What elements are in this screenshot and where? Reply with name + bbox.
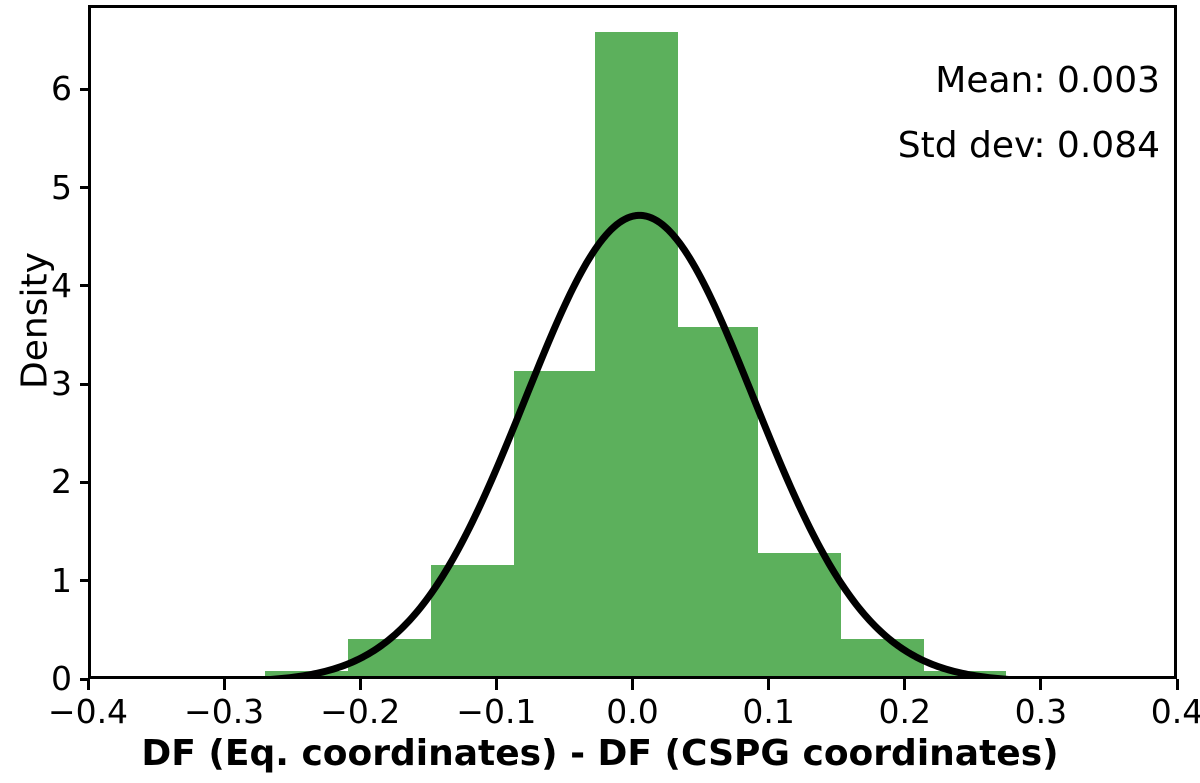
- x-axis-label: DF (Eq. coordinates) - DF (CSPG coordina…: [0, 733, 1200, 774]
- figure: 0123456 −0.4−0.3−0.2−0.10.00.10.20.30.4 …: [0, 0, 1200, 783]
- y-tick-mark: [80, 579, 89, 582]
- x-tick-label: 0.1: [699, 695, 839, 728]
- y-tick-label: 2: [12, 465, 72, 498]
- y-tick-mark: [80, 88, 89, 91]
- x-tick-mark: [631, 679, 634, 690]
- x-tick-mark: [1039, 679, 1042, 690]
- x-tick-mark: [1176, 679, 1179, 690]
- x-tick-label: 0.3: [971, 695, 1111, 728]
- y-tick-mark: [80, 186, 89, 189]
- x-tick-label: 0.0: [563, 695, 703, 728]
- mean-annotation: Mean: 0.003: [935, 60, 1160, 101]
- x-tick-label: 0.2: [835, 695, 975, 728]
- x-tick-mark: [903, 679, 906, 690]
- y-tick-label: 0: [12, 662, 72, 695]
- x-tick-mark: [87, 679, 90, 690]
- x-tick-mark: [767, 679, 770, 690]
- std-dev-annotation: Std dev: 0.084: [898, 125, 1160, 166]
- y-tick-label: 1: [12, 564, 72, 597]
- x-tick-label: −0.4: [18, 695, 158, 728]
- x-tick-label: 0.4: [1107, 695, 1200, 728]
- plot-area: [88, 5, 1177, 679]
- y-axis-label: Density: [15, 191, 56, 451]
- x-tick-label: −0.1: [426, 695, 566, 728]
- x-tick-mark: [359, 679, 362, 690]
- x-tick-label: −0.3: [154, 695, 294, 728]
- y-tick-mark: [80, 383, 89, 386]
- normal-fit-curve: [91, 8, 1174, 676]
- y-tick-mark: [80, 481, 89, 484]
- y-tick-label: 6: [12, 72, 72, 105]
- x-tick-mark: [223, 679, 226, 690]
- x-tick-label: −0.2: [290, 695, 430, 728]
- x-tick-mark: [495, 679, 498, 690]
- y-tick-mark: [80, 284, 89, 287]
